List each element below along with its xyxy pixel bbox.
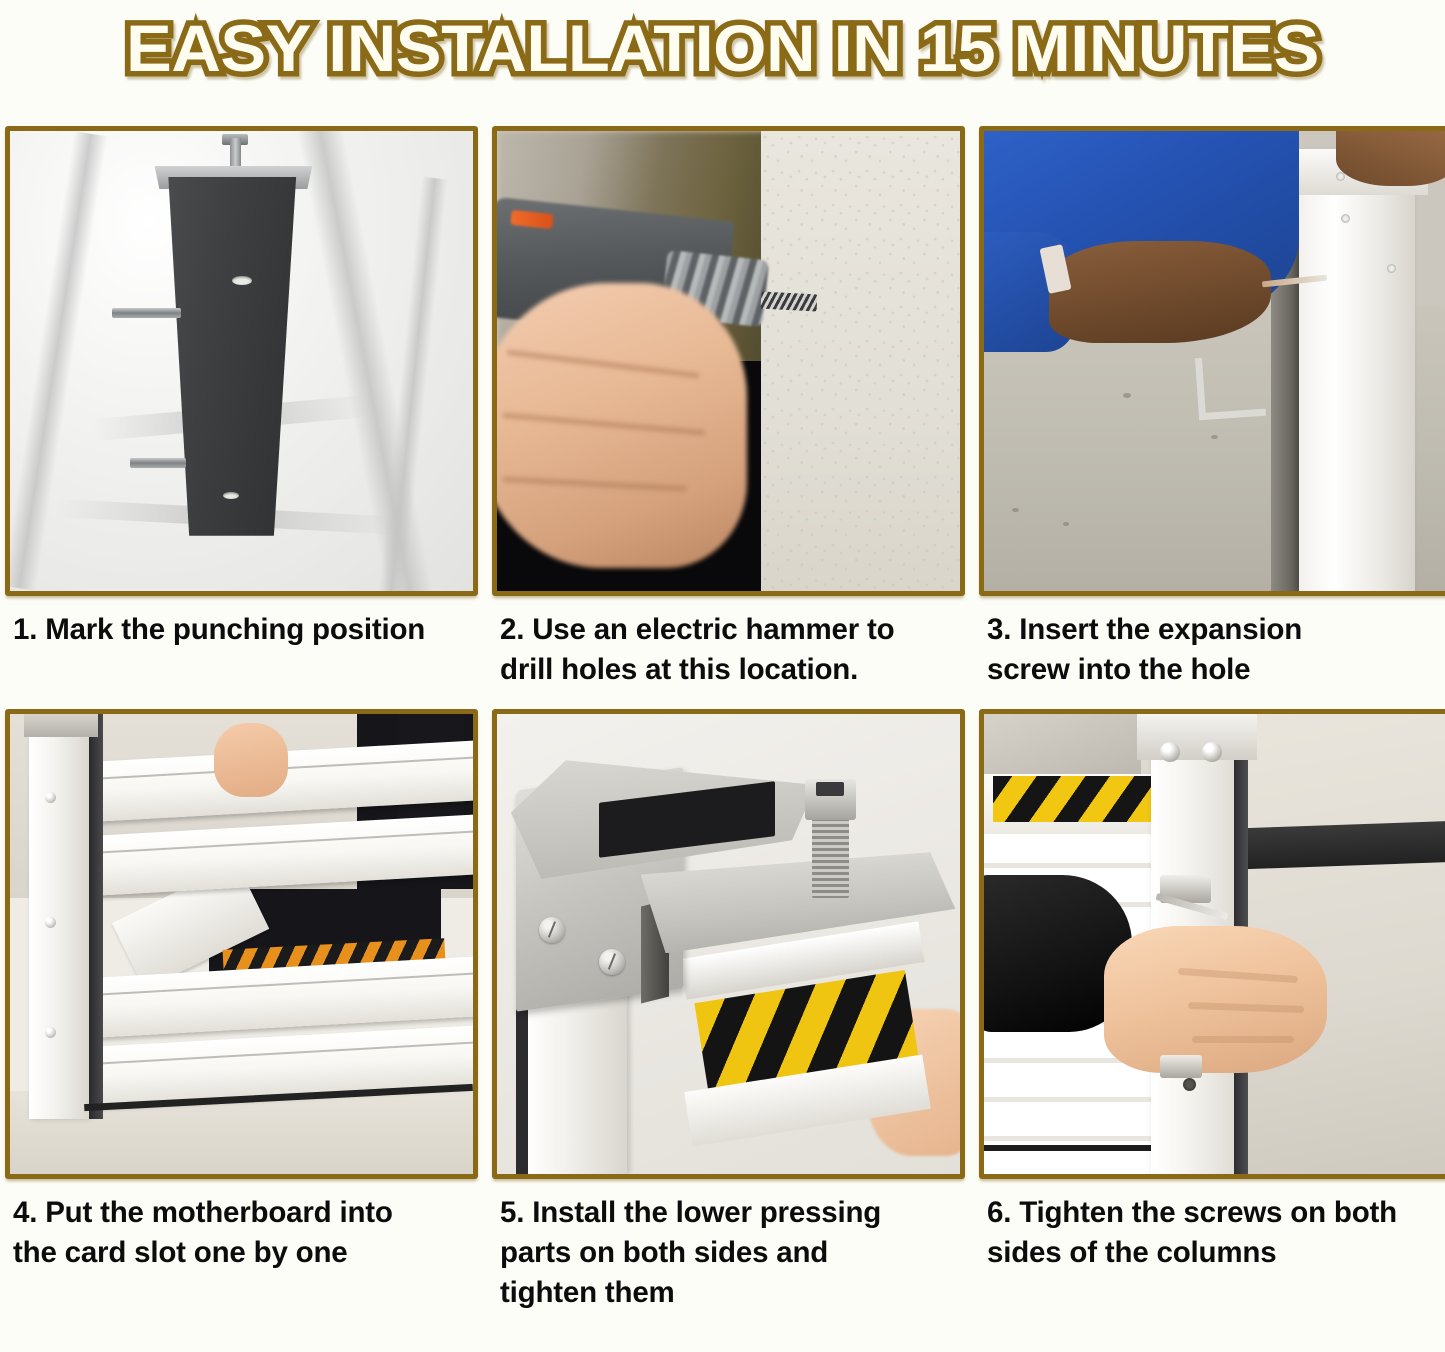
step-card-3: 3. Insert the expansion screw into the h… [979, 126, 1445, 690]
hand-shape [214, 723, 288, 797]
wall-surface [761, 131, 960, 591]
step-card-1: 1. Mark the punching position [5, 126, 478, 690]
step-card-4: 4. Put the motherboard into the card slo… [5, 709, 478, 1313]
step-image-frame-4 [5, 709, 478, 1179]
header-banner: EASY INSTALLATION IN 15 MINUTES [0, 0, 1445, 96]
drill-bit-shape [761, 291, 817, 310]
step-caption-3: 3. Insert the expansion screw into the h… [979, 596, 1445, 690]
steps-row-bottom: 4. Put the motherboard into the card slo… [0, 709, 1445, 1313]
column-shape [29, 714, 89, 1119]
step-card-6: 6. Tighten the screws on both sides of t… [979, 709, 1445, 1313]
step-photo-4 [10, 714, 473, 1174]
step-caption-5: 5. Install the lower pressing parts on b… [492, 1179, 965, 1313]
step-photo-3 [984, 131, 1445, 591]
step-caption-2: 2. Use an electric hammer to drill holes… [492, 596, 965, 690]
screw-icon [1160, 742, 1180, 762]
step-card-5: 5. Install the lower pressing parts on b… [492, 709, 965, 1313]
screw-icon [539, 917, 565, 943]
step-image-frame-2 [492, 126, 965, 596]
step-caption-1: 1. Mark the punching position [5, 596, 478, 650]
allen-key-icon [1195, 354, 1266, 421]
steps-grid: 1. Mark the punching position 2. Use an … [0, 126, 1445, 1314]
step-card-2: 2. Use an electric hammer to drill holes… [492, 126, 965, 690]
step-image-frame-3 [979, 126, 1445, 596]
bolt-shape [812, 815, 849, 898]
step-photo-5 [497, 714, 960, 1174]
step-caption-6: 6. Tighten the screws on both sides of t… [979, 1179, 1445, 1273]
step-caption-4: 4. Put the motherboard into the card slo… [5, 1179, 478, 1273]
column-post-shape [163, 177, 302, 536]
step-image-frame-6 [979, 709, 1445, 1179]
screw-icon [1202, 742, 1222, 762]
page-title: EASY INSTALLATION IN 15 MINUTES [126, 15, 1319, 81]
step-photo-2 [497, 131, 960, 591]
hazard-stripe [993, 776, 1150, 822]
steps-row-top: 1. Mark the punching position 2. Use an … [0, 126, 1445, 690]
step-image-frame-1 [5, 126, 478, 596]
step-photo-6 [984, 714, 1445, 1174]
screw-icon [599, 949, 625, 975]
step-image-frame-5 [492, 709, 965, 1179]
hand-shape [1049, 241, 1271, 342]
hand-shape [1104, 926, 1326, 1073]
step-photo-1 [10, 131, 473, 591]
column-shape [1299, 154, 1415, 591]
